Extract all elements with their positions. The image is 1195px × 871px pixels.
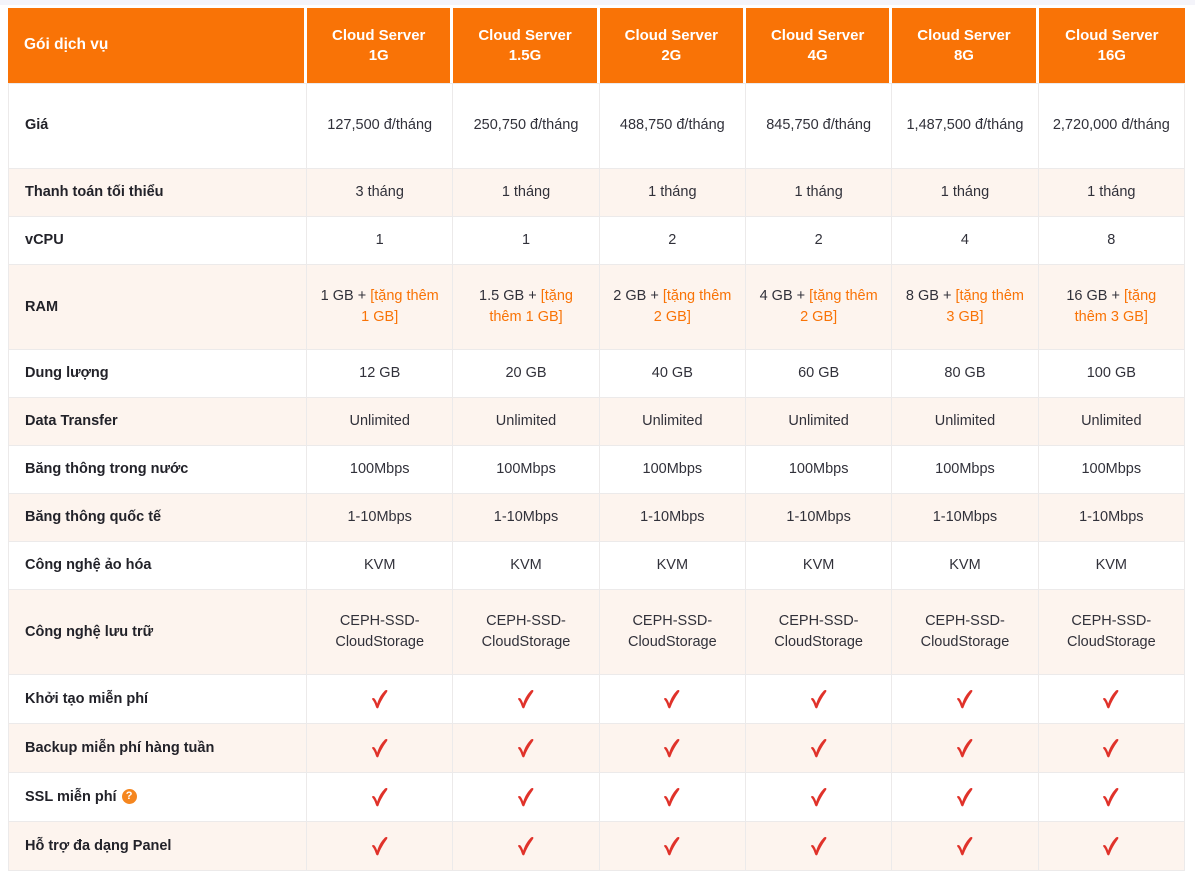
check-mark-icon (955, 688, 975, 710)
cell-panel-8g (892, 822, 1038, 871)
plan-name: Cloud Server (756, 26, 879, 46)
cell-storage-4g: CEPH-SSD-CloudStorage (746, 590, 892, 675)
cell-price-1g: 127,500 đ/tháng (307, 83, 453, 169)
header-label-column: Gói dịch vụ (8, 8, 307, 83)
cell-backup-2g (600, 724, 746, 773)
table-row-free-setup: Khởi tạo miễn phí (8, 675, 1185, 724)
check-mark-icon (516, 835, 536, 857)
cell-virt-1g: KVM (307, 542, 453, 590)
ram-base: 4 GB + (760, 288, 810, 304)
cell-price-8g: 1,487,500 đ/tháng (892, 83, 1038, 169)
cell-ram-16g: 16 GB + [tặng thêm 3 GB] (1039, 265, 1185, 350)
table-row-ram: RAM 1 GB + [tặng thêm 1 GB] 1.5 GB + [tặ… (8, 265, 1185, 350)
top-band (0, 0, 1195, 5)
cell-virt-16g: KVM (1039, 542, 1185, 590)
help-question-icon[interactable]: ? (122, 789, 137, 804)
row-label: Thanh toán tối thiểu (8, 169, 307, 217)
plan-name: Cloud Server (610, 26, 733, 46)
cell-vcpu-2g: 2 (600, 217, 746, 265)
table-row-vcpu: vCPU 1 1 2 2 4 8 (8, 217, 1185, 265)
row-label: Công nghệ lưu trữ (8, 590, 307, 675)
table-row-weekly-backup: Backup miễn phí hàng tuần (8, 724, 1185, 773)
plan-size: 16G (1049, 46, 1175, 66)
plan-name: Cloud Server (902, 26, 1025, 46)
plan-name: Cloud Server (1049, 26, 1175, 46)
cell-intl-bw-8g: 1-10Mbps (892, 494, 1038, 542)
table-row-free-ssl: SSL miễn phí? (8, 773, 1185, 822)
cell-setup-1g (307, 675, 453, 724)
cell-setup-1-5g (453, 675, 599, 724)
row-label: Công nghệ ảo hóa (8, 542, 307, 590)
cell-virt-2g: KVM (600, 542, 746, 590)
table-row-price: Giá 127,500 đ/tháng 250,750 đ/tháng 488,… (8, 83, 1185, 169)
cell-price-2g: 488,750 đ/tháng (600, 83, 746, 169)
cell-setup-8g (892, 675, 1038, 724)
cell-vcpu-1g: 1 (307, 217, 453, 265)
plan-size: 1G (317, 46, 440, 66)
check-mark-icon (516, 786, 536, 808)
ram-bonus: [tặng thêm 2 GB] (654, 288, 732, 325)
table-row-panel-support: Hỗ trợ đa dạng Panel (8, 822, 1185, 871)
check-mark-icon (370, 835, 390, 857)
ram-base: 2 GB + (613, 288, 663, 304)
cell-dom-bw-1g: 100Mbps (307, 446, 453, 494)
ram-base: 16 GB + (1066, 288, 1124, 304)
table-row-virtualization: Công nghệ ảo hóa KVM KVM KVM KVM KVM KVM (8, 542, 1185, 590)
ram-bonus: [tặng thêm 1 GB] (361, 288, 439, 325)
check-mark-icon (370, 737, 390, 759)
cell-virt-8g: KVM (892, 542, 1038, 590)
ram-bonus: [tặng thêm 2 GB] (800, 288, 878, 325)
cell-storage-16g: CEPH-SSD-CloudStorage (1039, 590, 1185, 675)
plan-name: Cloud Server (463, 26, 586, 46)
cell-setup-16g (1039, 675, 1185, 724)
row-label: RAM (8, 265, 307, 350)
cell-backup-4g (746, 724, 892, 773)
cell-ram-8g: 8 GB + [tặng thêm 3 GB] (892, 265, 1038, 350)
cell-intl-bw-1-5g: 1-10Mbps (453, 494, 599, 542)
cell-ssl-4g (746, 773, 892, 822)
row-label: Băng thông quốc tế (8, 494, 307, 542)
check-mark-icon (662, 835, 682, 857)
row-label: Dung lượng (8, 350, 307, 398)
check-mark-icon (516, 737, 536, 759)
check-mark-icon (662, 688, 682, 710)
check-mark-icon (955, 737, 975, 759)
check-mark-icon (516, 688, 536, 710)
cell-price-16g: 2,720,000 đ/tháng (1039, 83, 1185, 169)
row-label: Data Transfer (8, 398, 307, 446)
check-mark-icon (809, 835, 829, 857)
check-mark-icon (370, 688, 390, 710)
cell-ssl-8g (892, 773, 1038, 822)
cell-transfer-1-5g: Unlimited (453, 398, 599, 446)
cell-ram-1g: 1 GB + [tặng thêm 1 GB] (307, 265, 453, 350)
cell-ssl-2g (600, 773, 746, 822)
header-plan-1g: Cloud Server 1G (307, 8, 453, 83)
cell-panel-1g (307, 822, 453, 871)
plan-size: 2G (610, 46, 733, 66)
cell-transfer-8g: Unlimited (892, 398, 1038, 446)
header-plan-4g: Cloud Server 4G (746, 8, 892, 83)
cell-dom-bw-1-5g: 100Mbps (453, 446, 599, 494)
cell-vcpu-16g: 8 (1039, 217, 1185, 265)
header-row: Gói dịch vụ Cloud Server 1G Cloud Server… (8, 8, 1185, 83)
cell-disk-8g: 80 GB (892, 350, 1038, 398)
cell-storage-1-5g: CEPH-SSD-CloudStorage (453, 590, 599, 675)
check-mark-icon (955, 786, 975, 808)
cell-backup-1g (307, 724, 453, 773)
cell-virt-1-5g: KVM (453, 542, 599, 590)
check-mark-icon (1101, 786, 1121, 808)
row-label: Backup miễn phí hàng tuần (8, 724, 307, 773)
check-mark-icon (662, 737, 682, 759)
cell-transfer-16g: Unlimited (1039, 398, 1185, 446)
table-row-international-bandwidth: Băng thông quốc tế 1-10Mbps 1-10Mbps 1-1… (8, 494, 1185, 542)
cell-panel-4g (746, 822, 892, 871)
cell-backup-16g (1039, 724, 1185, 773)
cell-ssl-1-5g (453, 773, 599, 822)
cell-disk-1g: 12 GB (307, 350, 453, 398)
table-row-domestic-bandwidth: Băng thông trong nước 100Mbps 100Mbps 10… (8, 446, 1185, 494)
check-mark-icon (809, 737, 829, 759)
cell-disk-4g: 60 GB (746, 350, 892, 398)
ram-base: 8 GB + (906, 288, 956, 304)
header-plan-16g: Cloud Server 16G (1039, 8, 1185, 83)
cell-panel-1-5g (453, 822, 599, 871)
cell-price-1-5g: 250,750 đ/tháng (453, 83, 599, 169)
header-plan-8g: Cloud Server 8G (892, 8, 1038, 83)
header-plan-1-5g: Cloud Server 1.5G (453, 8, 599, 83)
cell-transfer-4g: Unlimited (746, 398, 892, 446)
cell-backup-8g (892, 724, 1038, 773)
check-mark-icon (955, 835, 975, 857)
table-header: Gói dịch vụ Cloud Server 1G Cloud Server… (8, 8, 1185, 83)
cell-dom-bw-4g: 100Mbps (746, 446, 892, 494)
cell-disk-1-5g: 20 GB (453, 350, 599, 398)
cell-vcpu-4g: 2 (746, 217, 892, 265)
row-label-text: SSL miễn phí (25, 789, 117, 805)
table-row-storage-size: Dung lượng 12 GB 20 GB 40 GB 60 GB 80 GB… (8, 350, 1185, 398)
cloud-server-pricing-table: Gói dịch vụ Cloud Server 1G Cloud Server… (8, 8, 1185, 871)
cell-transfer-2g: Unlimited (600, 398, 746, 446)
row-label: Hỗ trợ đa dạng Panel (8, 822, 307, 871)
cell-intl-bw-4g: 1-10Mbps (746, 494, 892, 542)
cell-dom-bw-2g: 100Mbps (600, 446, 746, 494)
cell-virt-4g: KVM (746, 542, 892, 590)
cell-disk-2g: 40 GB (600, 350, 746, 398)
row-label: vCPU (8, 217, 307, 265)
cell-ram-4g: 4 GB + [tặng thêm 2 GB] (746, 265, 892, 350)
row-label: Khởi tạo miễn phí (8, 675, 307, 724)
cell-ssl-1g (307, 773, 453, 822)
plan-size: 1.5G (463, 46, 586, 66)
check-mark-icon (1101, 737, 1121, 759)
cell-setup-2g (600, 675, 746, 724)
cell-panel-2g (600, 822, 746, 871)
cell-storage-1g: CEPH-SSD-CloudStorage (307, 590, 453, 675)
ram-base: 1.5 GB + (479, 288, 541, 304)
cell-setup-4g (746, 675, 892, 724)
cell-dom-bw-8g: 100Mbps (892, 446, 1038, 494)
table-row-storage-tech: Công nghệ lưu trữ CEPH-SSD-CloudStorage … (8, 590, 1185, 675)
ram-bonus: [tặng thêm 3 GB] (946, 288, 1024, 325)
cell-storage-8g: CEPH-SSD-CloudStorage (892, 590, 1038, 675)
cell-minpay-16g: 1 tháng (1039, 169, 1185, 217)
check-mark-icon (370, 786, 390, 808)
plan-name: Cloud Server (317, 26, 440, 46)
cell-minpay-4g: 1 tháng (746, 169, 892, 217)
table-row-min-payment: Thanh toán tối thiểu 3 tháng 1 tháng 1 t… (8, 169, 1185, 217)
table-body: Giá 127,500 đ/tháng 250,750 đ/tháng 488,… (8, 83, 1185, 871)
check-mark-icon (1101, 835, 1121, 857)
cell-ram-1-5g: 1.5 GB + [tặng thêm 1 GB] (453, 265, 599, 350)
pricing-table-page: Gói dịch vụ Cloud Server 1G Cloud Server… (0, 0, 1195, 800)
cell-storage-2g: CEPH-SSD-CloudStorage (600, 590, 746, 675)
cell-minpay-8g: 1 tháng (892, 169, 1038, 217)
table-row-data-transfer: Data Transfer Unlimited Unlimited Unlimi… (8, 398, 1185, 446)
check-mark-icon (662, 786, 682, 808)
cell-vcpu-1-5g: 1 (453, 217, 599, 265)
row-label-ssl: SSL miễn phí? (8, 773, 307, 822)
cell-backup-1-5g (453, 724, 599, 773)
header-plan-2g: Cloud Server 2G (600, 8, 746, 83)
cell-intl-bw-2g: 1-10Mbps (600, 494, 746, 542)
cell-price-4g: 845,750 đ/tháng (746, 83, 892, 169)
plan-size: 8G (902, 46, 1025, 66)
cell-dom-bw-16g: 100Mbps (1039, 446, 1185, 494)
plan-size: 4G (756, 46, 879, 66)
check-mark-icon (1101, 688, 1121, 710)
cell-disk-16g: 100 GB (1039, 350, 1185, 398)
cell-transfer-1g: Unlimited (307, 398, 453, 446)
cell-intl-bw-16g: 1-10Mbps (1039, 494, 1185, 542)
cell-ram-2g: 2 GB + [tặng thêm 2 GB] (600, 265, 746, 350)
row-label: Giá (8, 83, 307, 169)
cell-intl-bw-1g: 1-10Mbps (307, 494, 453, 542)
check-mark-icon (809, 688, 829, 710)
cell-ssl-16g (1039, 773, 1185, 822)
check-mark-icon (809, 786, 829, 808)
cell-minpay-2g: 1 tháng (600, 169, 746, 217)
cell-minpay-1-5g: 1 tháng (453, 169, 599, 217)
cell-vcpu-8g: 4 (892, 217, 1038, 265)
cell-minpay-1g: 3 tháng (307, 169, 453, 217)
ram-base: 1 GB + (321, 288, 371, 304)
row-label: Băng thông trong nước (8, 446, 307, 494)
cell-panel-16g (1039, 822, 1185, 871)
